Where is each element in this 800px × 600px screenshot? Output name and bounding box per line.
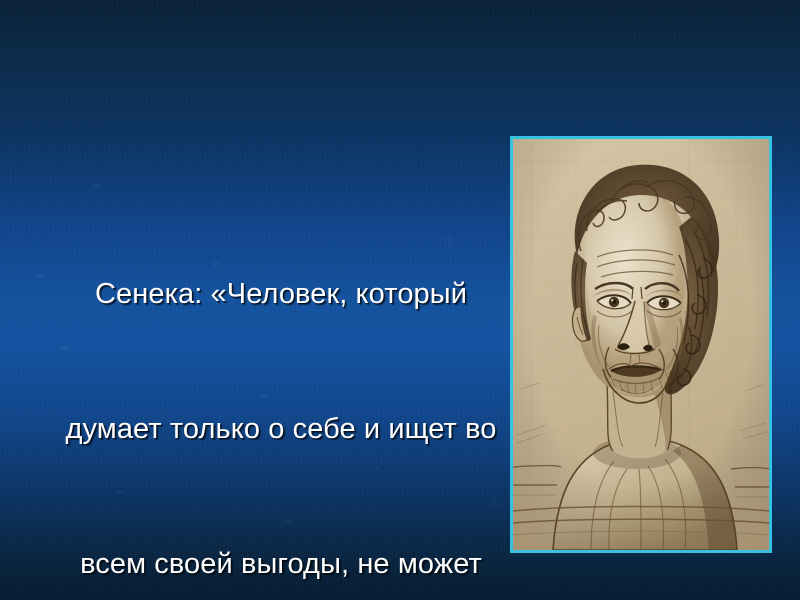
portrait-drawing-seneca-bust (513, 139, 769, 550)
presentation-slide: Сенека: «Человек, который думает только … (0, 0, 800, 600)
quote-line-3: всем своей выгоды, не может (46, 542, 516, 587)
artwork-frame (510, 136, 772, 553)
quote-line-1: Сенека: «Человек, который (46, 272, 516, 317)
quote-line-2: думает только о себе и ищет во (46, 407, 516, 452)
quote-text-block: Сенека: «Человек, который думает только … (46, 182, 516, 600)
